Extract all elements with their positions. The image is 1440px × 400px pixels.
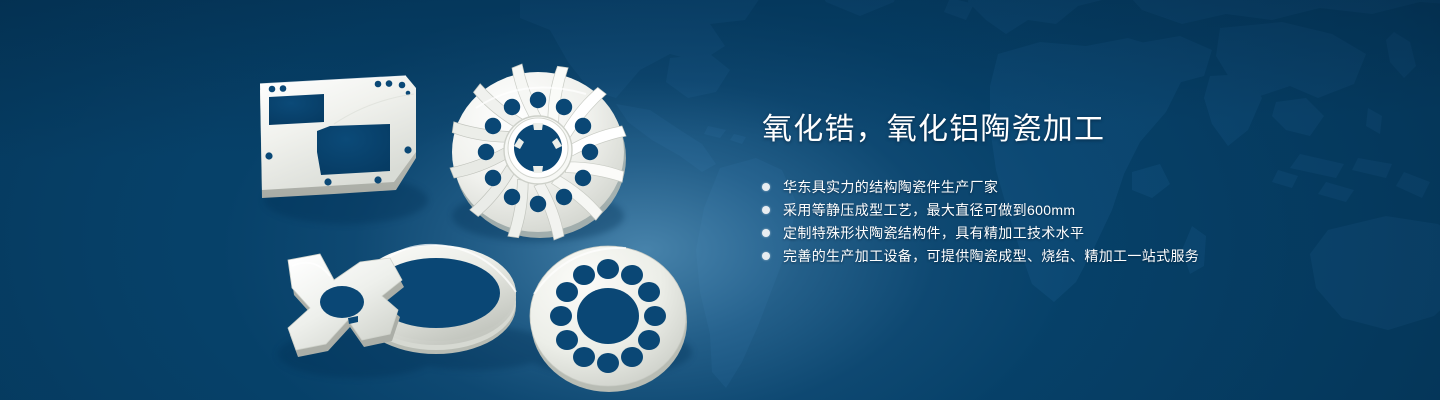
banner-text-column: 氧化锆，氧化铝陶瓷加工 华东具实力的结构陶瓷件生产厂家 采用等静压成型工艺，最大… (762, 110, 1382, 268)
feature-text: 采用等静压成型工艺，最大直径可做到600mm (783, 199, 1075, 221)
product-ceramic-impeller (449, 63, 627, 241)
product-ceramic-perforated-disc (530, 246, 687, 392)
ceramic-products-photo (238, 34, 708, 386)
feature-list: 华东具实力的结构陶瓷件生产厂家 采用等静压成型工艺，最大直径可做到600mm 定… (762, 176, 1382, 267)
bullet-dot-icon (762, 206, 770, 214)
bullet-dot-icon (762, 252, 770, 260)
bullet-dot-icon (762, 229, 770, 237)
product-ceramic-plate (260, 76, 416, 198)
feature-text: 华东具实力的结构陶瓷件生产厂家 (783, 176, 998, 198)
bullet-dot-icon (762, 183, 770, 191)
feature-text: 定制特殊形状陶瓷结构件，具有精加工技术水平 (783, 222, 1084, 244)
list-item: 定制特殊形状陶瓷结构件，具有精加工技术水平 (762, 222, 1382, 244)
list-item: 完善的生产加工设备，可提供陶瓷成型、烧结、精加工一站式服务 (762, 245, 1382, 267)
banner-headline: 氧化锆，氧化铝陶瓷加工 (762, 110, 1382, 150)
list-item: 采用等静压成型工艺，最大直径可做到600mm (762, 199, 1382, 221)
feature-text: 完善的生产加工设备，可提供陶瓷成型、烧结、精加工一站式服务 (783, 245, 1199, 267)
list-item: 华东具实力的结构陶瓷件生产厂家 (762, 176, 1382, 198)
product-banner: 氧化锆，氧化铝陶瓷加工 华东具实力的结构陶瓷件生产厂家 采用等静压成型工艺，最大… (0, 0, 1440, 400)
